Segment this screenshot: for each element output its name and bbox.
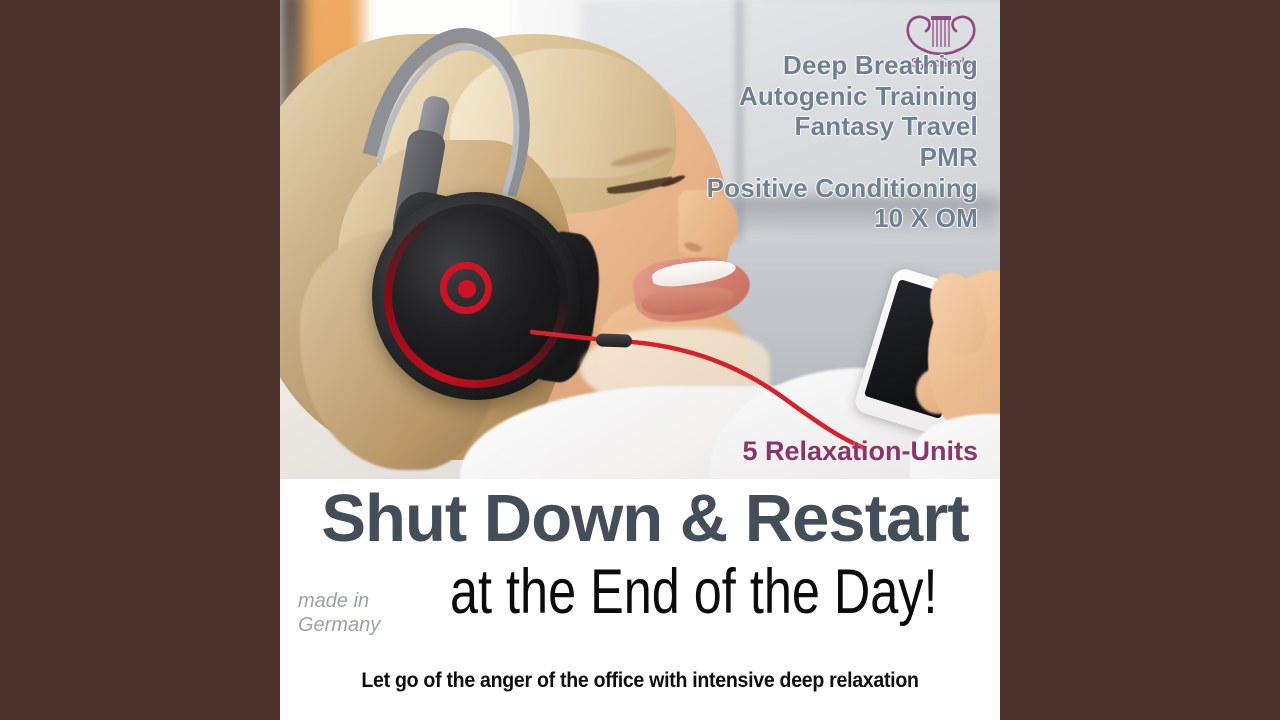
cover-photo: SyncSouls Deep Breathing Autogenic Train… [280, 0, 1000, 479]
title-panel: Shut Down & Restart at the End of the Da… [280, 479, 1000, 720]
feature-list: Deep Breathing Autogenic Training Fantas… [707, 50, 978, 234]
feature-item-pmr: PMR [707, 142, 978, 173]
made-in-line-2: Germany [298, 614, 380, 636]
feature-item-positive-conditioning: Positive Conditioning [707, 173, 978, 204]
feature-item-autogenic-training: Autogenic Training [707, 81, 978, 112]
made-in-line-1: made in [298, 590, 369, 612]
album-cover: SyncSouls Deep Breathing Autogenic Train… [280, 0, 1000, 720]
feature-item-10-x-om: 10 X OM [707, 203, 978, 234]
feature-item-fantasy-travel: Fantasy Travel [707, 111, 978, 142]
relaxation-units-badge: 5 Relaxation-Units [742, 436, 978, 467]
cable-inline-mic [596, 333, 632, 347]
screenshot-stage: SyncSouls Deep Breathing Autogenic Train… [0, 0, 1280, 720]
feature-item-deep-breathing: Deep Breathing [707, 50, 978, 81]
album-tagline: Let go of the anger of the office with i… [305, 669, 975, 693]
beats-circle-dot-icon [458, 280, 476, 298]
album-title: Shut Down & Restart [300, 485, 990, 552]
album-subtitle: at the End of the Day! [450, 561, 930, 624]
made-in-germany-mark: made in Germany [298, 589, 408, 638]
